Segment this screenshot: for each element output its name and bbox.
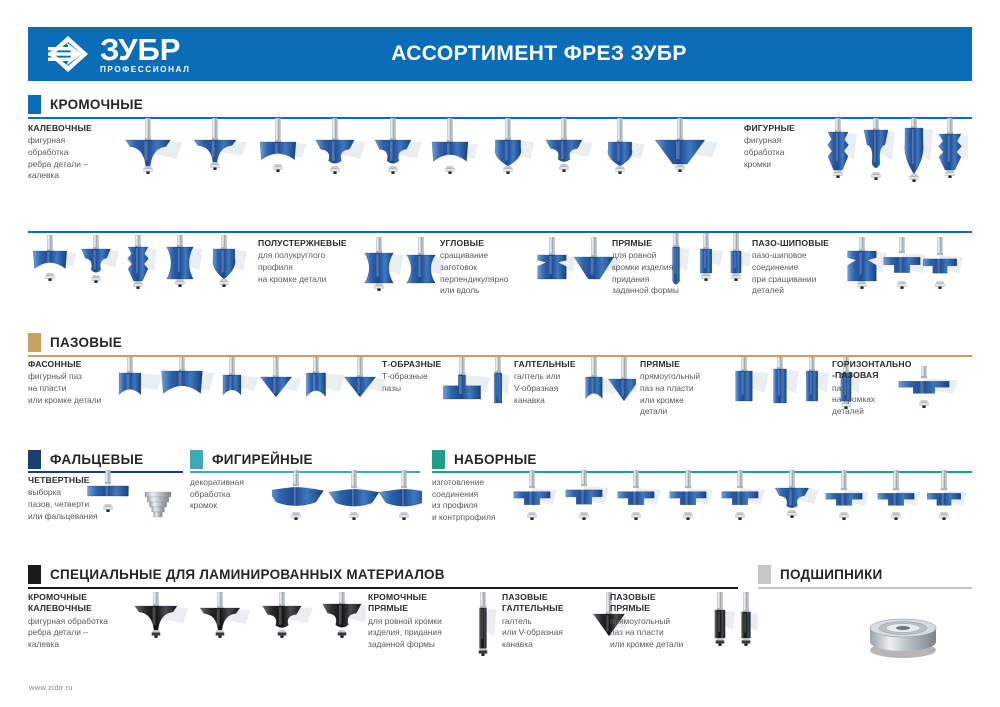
bit-row-chetvertnye [86, 470, 182, 536]
bit-row-kromochnye-kalevochnye [120, 118, 740, 210]
section-head-figireynye: ФИГИРЕЙНЫЕ [190, 450, 313, 469]
section-title-nabornye: НАБОРНЫЕ [454, 452, 537, 467]
bit-row-gorizontalno-pazovaya [878, 366, 974, 436]
group-title: ПОЛУСТЕРЖНЕВЫЕ [258, 238, 368, 249]
section-chip-faltsevye [28, 450, 41, 469]
group-desc-line: канавка [502, 639, 602, 651]
section-chip-figireynye [190, 450, 203, 469]
group-desc-line: галтель [502, 616, 602, 628]
section-head-nabornye: НАБОРНЫЕ [432, 450, 537, 469]
group-desc-line: прямоугольный [640, 371, 732, 383]
group-title: ГАЛТЕЛЬНЫЕ [502, 603, 602, 614]
brand-logo: ЗУБР ПРОФЕССИОНАЛ [28, 27, 256, 81]
group-title: ПАЗОВЫЕ [502, 592, 602, 603]
group-desc-line: обработка [190, 489, 282, 501]
group-desc-line: калевка [28, 170, 133, 182]
brand-subtitle: ПРОФЕССИОНАЛ [100, 66, 190, 74]
bearing-image [860, 612, 946, 662]
group-desc-line: кромок [190, 500, 282, 512]
group-kalevochnye: КАЛЕВОЧНЫЕ фигурная обработка ребра дета… [28, 123, 133, 182]
bit-row-kromochnye-figurnye [818, 118, 968, 210]
section-chip-podshipniki [758, 565, 771, 584]
group-title: ФИГУРНЫЕ [744, 123, 824, 134]
group-desc-line: обработка [744, 147, 824, 159]
bit-row-polusterzhnevye [355, 237, 445, 317]
bit-row-nabornye [508, 470, 970, 536]
group-figurnye: ФИГУРНЫЕ фигурная обработка кромки [744, 123, 824, 170]
bit-row-figireynye [272, 470, 422, 536]
section-chip-spec-lam [28, 565, 41, 584]
group-figireynye-desc: декоративная обработка кромок [190, 477, 282, 512]
section-title-pazovye: ПАЗОВЫЕ [50, 335, 122, 350]
section-chip-kromochnye [28, 95, 41, 114]
group-pazovye-galtelnye-lam: ПАЗОВЫЕ ГАЛТЕЛЬНЫЕ галтель или V-образна… [502, 592, 602, 651]
bit-row-pazo-shipovye [840, 237, 970, 317]
section-head-pazovye: ПАЗОВЫЕ [28, 333, 122, 352]
group-desc-line: фигурная [744, 135, 824, 147]
group-desc-line: фигурная [28, 135, 133, 147]
bit-row-t-obraznye [440, 357, 514, 435]
group-polusterzhnevye: ПОЛУСТЕРЖНЕВЫЕ для полукруглого профиля … [258, 238, 368, 285]
section-head-faltsevye: ФАЛЬЦЕВЫЕ [28, 450, 143, 469]
section-head-spec-lam: СПЕЦИАЛЬНЫЕ ДЛЯ ЛАМИНИРОВАННЫХ МАТЕРИАЛО… [28, 565, 445, 584]
group-desc-line: профиля [258, 262, 368, 274]
group-desc-line: декоративная [190, 477, 282, 489]
group-desc-line: детали [640, 406, 732, 418]
brand-name: ЗУБР [100, 34, 190, 65]
group-desc-line: для полукруглого [258, 250, 368, 262]
section-title-faltsevye: ФАЛЬЦЕВЫЕ [50, 452, 143, 467]
section-title-figireynye: ФИГИРЕЙНЫЕ [212, 452, 313, 467]
group-desc-line: паз на пласти [640, 383, 732, 395]
bit-row-galtelnye [574, 357, 636, 435]
group-title: КАЛЕВОЧНЫЕ [28, 123, 133, 134]
bit-row-pryamye-kromochnye [660, 233, 750, 319]
bit-row-kromochnye-pryamye-lam [466, 592, 500, 682]
page-title: АССОРТИМЕНТ ФРЕЗ ЗУБР [256, 42, 972, 66]
bit-row-fasonnye [104, 357, 384, 435]
footer-url: www.zubr.ru [29, 683, 73, 692]
group-title: ПРЯМЫЕ [640, 359, 732, 370]
section-chip-pazovye [28, 333, 41, 352]
group-desc-line: кромки [744, 159, 824, 171]
group-desc-line: ребра детали – [28, 159, 133, 171]
zubr-arrow-logo-icon [46, 34, 92, 74]
section-rule-kromochnye-2 [28, 231, 972, 233]
group-desc-line: или кромке [640, 395, 732, 407]
bit-row-uglovye [530, 237, 620, 317]
group-desc-line: или V-образная [502, 627, 602, 639]
group-desc-line: на кромке детали [258, 274, 368, 286]
section-title-podshipniki: ПОДШИПНИКИ [780, 567, 883, 582]
bit-row-kromochnye-kalevochnye-lam [126, 592, 366, 672]
section-rule-spec-lam [28, 587, 738, 589]
section-title-kromochnye: КРОМОЧНЫЕ [50, 97, 143, 112]
poster-header: ЗУБР ПРОФЕССИОНАЛ АССОРТИМЕНТ ФРЕЗ ЗУБР [28, 27, 972, 81]
bit-row-pazovye-pryamye-lam [706, 592, 758, 672]
poster-page: ЗУБР ПРОФЕССИОНАЛ АССОРТИМЕНТ ФРЕЗ ЗУБР … [0, 0, 1000, 707]
bit-row-polusterzhnevye-left [28, 235, 258, 315]
section-head-podshipniki: ПОДШИПНИКИ [758, 565, 883, 584]
section-head-kromochnye: КРОМОЧНЫЕ [28, 95, 143, 114]
group-pryamye-pazovye: ПРЯМЫЕ прямоугольный паз на пласти или к… [640, 359, 732, 418]
section-chip-nabornye [432, 450, 445, 469]
section-title-spec-lam: СПЕЦИАЛЬНЫЕ ДЛЯ ЛАМИНИРОВАННЫХ МАТЕРИАЛО… [50, 567, 445, 582]
group-desc-line: обработка [28, 147, 133, 159]
section-rule-podshipniki [758, 587, 972, 589]
